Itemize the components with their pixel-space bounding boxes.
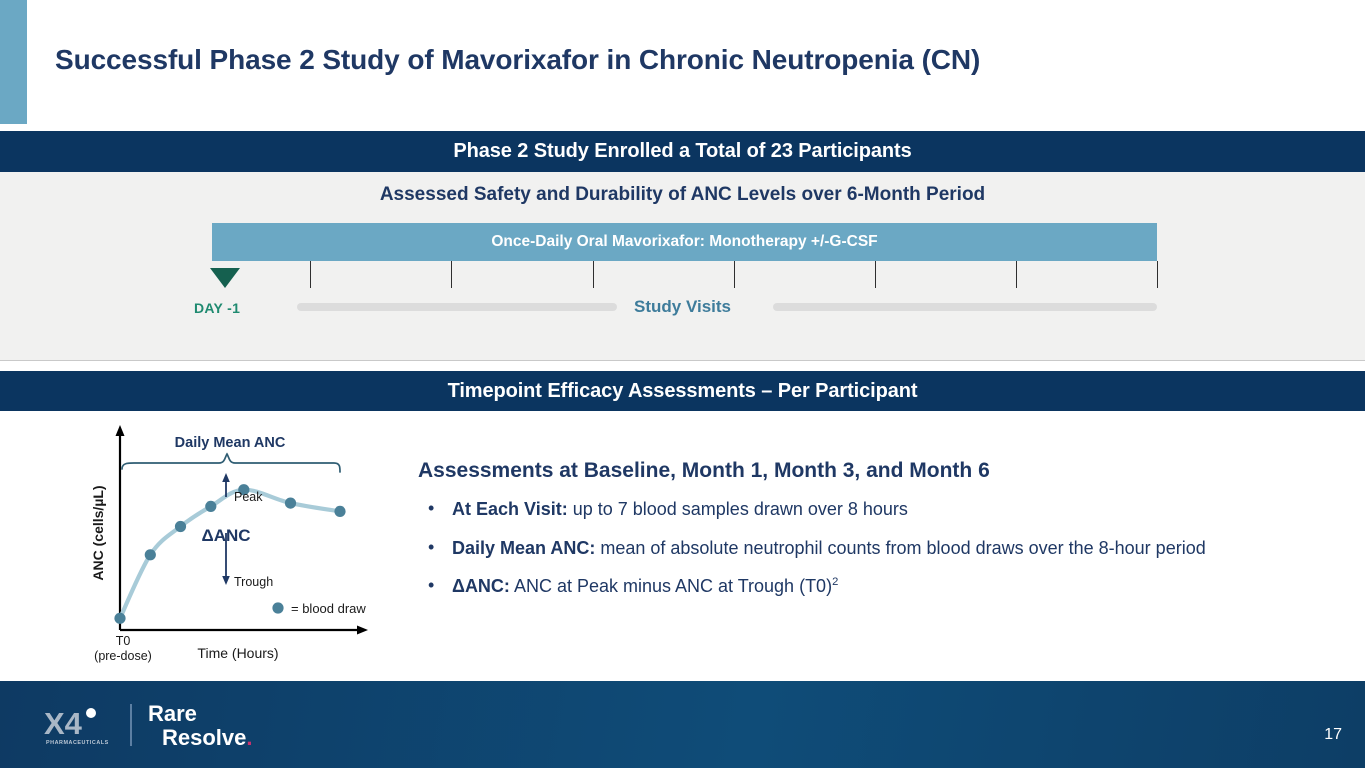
band1-header: Phase 2 Study Enrolled a Total of 23 Par… xyxy=(0,131,1365,172)
title-zone: Successful Phase 2 Study of Mavorixafor … xyxy=(0,0,1365,130)
band1-subheader: Assessed Safety and Durability of ANC Le… xyxy=(0,184,1365,206)
logo-dot-icon xyxy=(86,708,96,718)
band2-header: Timepoint Efficacy Assessments – Per Par… xyxy=(0,371,1365,411)
blood-draw-point-6 xyxy=(334,506,345,517)
chart-trough-label: Trough xyxy=(234,575,273,589)
page-number: 17 xyxy=(1324,726,1342,744)
bullet-text-0: up to 7 blood samples drawn over 8 hours xyxy=(568,499,908,519)
bullet-item-0: •At Each Visit: up to 7 blood samples dr… xyxy=(418,497,1298,523)
blood-draw-point-0 xyxy=(114,613,125,624)
chart-y-axis-label: ANC (cells/µL) xyxy=(90,485,106,580)
day-minus-1-marker-icon xyxy=(210,268,240,288)
accent-stripe xyxy=(0,0,27,124)
chart-x-axis-label: Time (Hours) xyxy=(197,645,278,661)
bullet-superscript-2: 2 xyxy=(832,576,838,588)
logo-divider xyxy=(130,704,132,746)
blood-draw-point-1 xyxy=(145,549,156,560)
daily-mean-anc-bracket-icon xyxy=(122,454,340,472)
day-minus-1-label: DAY -1 xyxy=(194,300,240,316)
tagline-line-2: Resolve xyxy=(162,725,246,750)
blood-draw-point-3 xyxy=(205,501,216,512)
anc-chart: Daily Mean ANC Peak Trough ΔANC = blood … xyxy=(78,423,398,673)
efficacy-panel: Daily Mean ANC Peak Trough ΔANC = blood … xyxy=(0,411,1365,681)
logo-pharmaceuticals-text: PHARMACEUTICALS xyxy=(46,740,109,746)
chart-peak-label: Peak xyxy=(234,490,263,504)
x4-pharmaceuticals-logo: X4 PHARMACEUTICALS xyxy=(44,704,122,748)
timeline-tick-3 xyxy=(734,261,735,288)
assessments-heading: Assessments at Baseline, Month 1, Month … xyxy=(418,459,1298,483)
bullet-marker-icon: • xyxy=(428,573,434,599)
visit-track-right xyxy=(773,303,1157,311)
assessments-bullet-list: •At Each Visit: up to 7 blood samples dr… xyxy=(418,497,1298,600)
timeline-tick-1 xyxy=(451,261,452,288)
treatment-bar: Once-Daily Oral Mavorixafor: Monotherapy… xyxy=(212,223,1157,261)
band1-header-label: Phase 2 Study Enrolled a Total of 23 Par… xyxy=(453,140,911,163)
blood-draw-point-2 xyxy=(175,521,186,532)
bullet-term-1: Daily Mean ANC: xyxy=(452,538,595,558)
study-design-panel: Assessed Safety and Durability of ANC Le… xyxy=(0,172,1365,361)
bullet-term-2: ΔANC: xyxy=(452,576,510,596)
timeline-tick-5 xyxy=(1016,261,1017,288)
bullet-term-0: At Each Visit: xyxy=(452,499,568,519)
bullet-marker-icon: • xyxy=(428,535,434,561)
timeline-tick-4 xyxy=(875,261,876,288)
legend-marker-icon xyxy=(272,602,283,613)
tagline-line-1: Rare xyxy=(148,701,197,726)
logo-x4-text: X4 xyxy=(44,706,83,741)
bullet-text-1: mean of absolute neutrophil counts from … xyxy=(595,538,1205,558)
timeline-tick-6 xyxy=(1157,261,1158,288)
chart-x-origin-label: T0 xyxy=(116,634,131,648)
anc-chart-svg: Daily Mean ANC Peak Trough ΔANC = blood … xyxy=(78,423,398,673)
tagline-line-2-wrap: Resolve. xyxy=(162,726,253,750)
blood-draw-point-5 xyxy=(285,498,296,509)
rare-resolve-tagline: Rare Resolve. xyxy=(148,702,253,750)
timeline-tick-0 xyxy=(310,261,311,288)
bullet-item-2: •ΔANC: ANC at Peak minus ANC at Trough (… xyxy=(418,574,1298,600)
timeline-tick-2 xyxy=(593,261,594,288)
chart-legend-label: = blood draw xyxy=(291,601,366,616)
treatment-bar-label: Once-Daily Oral Mavorixafor: Monotherapy… xyxy=(491,233,877,251)
chart-bracket-label: Daily Mean ANC xyxy=(175,435,286,451)
chart-delta-anc-label: ΔANC xyxy=(201,526,250,545)
bullet-marker-icon: • xyxy=(428,496,434,522)
tagline-period: . xyxy=(246,725,252,750)
chart-x-origin-sublabel: (pre-dose) xyxy=(94,649,152,663)
page-title: Successful Phase 2 Study of Mavorixafor … xyxy=(55,44,980,76)
bullet-text-2: ANC at Peak minus ANC at Trough (T0) xyxy=(510,576,832,596)
assessments-text-column: Assessments at Baseline, Month 1, Month … xyxy=(418,459,1298,613)
bullet-item-1: •Daily Mean ANC: mean of absolute neutro… xyxy=(418,536,1298,562)
band2-header-label: Timepoint Efficacy Assessments – Per Par… xyxy=(448,380,918,403)
slide: Successful Phase 2 Study of Mavorixafor … xyxy=(0,0,1365,768)
